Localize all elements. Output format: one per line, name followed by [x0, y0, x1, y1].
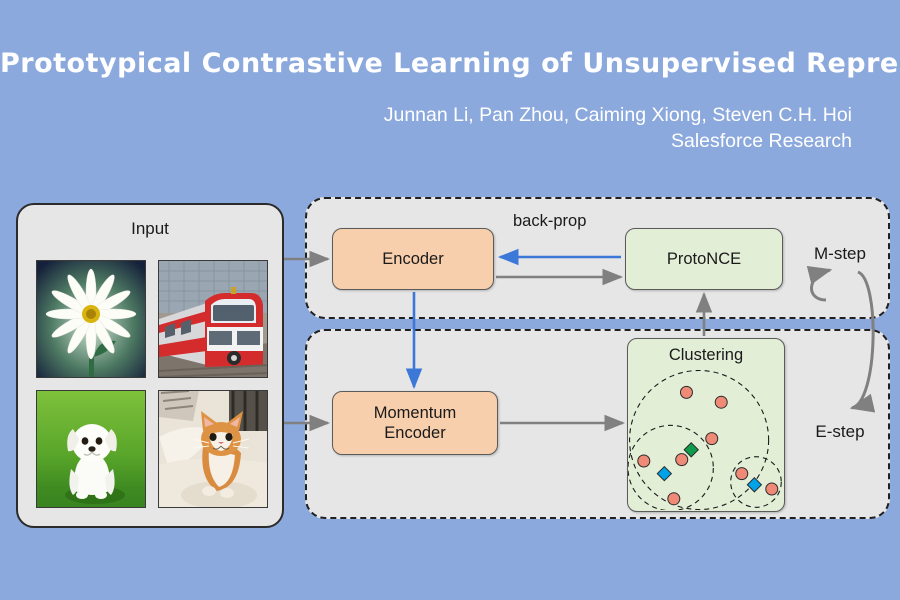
encoder-label: Encoder: [382, 249, 443, 269]
back-prop-label: back-prop: [513, 212, 586, 231]
cluster-point-instance-features: [766, 483, 778, 495]
daisy-flower-thumbnail: [36, 260, 146, 378]
author-list: Junnan Li, Pan Zhou, Caiming Xiong, Stev…: [384, 102, 852, 128]
slide-canvas: Prototypical Contrastive Learning of Uns…: [0, 0, 900, 600]
cluster-point-prototypes-blue: [657, 467, 671, 481]
momentum-encoder-label-line1: Momentum: [374, 404, 457, 422]
e-step-label: E-step: [795, 422, 885, 442]
affiliation: Salesforce Research: [384, 128, 852, 154]
input-thumbnail-grid: [36, 260, 268, 510]
momentum-encoder-box[interactable]: Momentum Encoder: [332, 391, 498, 455]
cluster-point-instance-features: [706, 433, 718, 445]
clustering-scatter-plot: [628, 370, 786, 510]
protonce-box[interactable]: ProtoNCE: [625, 228, 783, 290]
cluster-point-instance-features: [715, 396, 727, 408]
cluster-point-prototypes-blue: [747, 478, 761, 492]
momentum-encoder-label-line2: Encoder: [384, 424, 445, 442]
red-train-thumbnail: [158, 260, 268, 378]
cluster-point-instance-features: [736, 468, 748, 480]
cluster-point-instance-features: [676, 454, 688, 466]
m-step-label: M-step: [795, 244, 885, 264]
cluster-point-instance-features: [638, 455, 650, 467]
cluster-point-prototype-green: [684, 443, 698, 457]
cluster-point-instance-features: [668, 493, 680, 505]
input-panel: Input: [16, 203, 284, 528]
clustering-label: Clustering: [628, 346, 784, 365]
momentum-encoder-label: Momentum Encoder: [374, 403, 457, 443]
protonce-label: ProtoNCE: [667, 249, 741, 269]
authors-block: Junnan Li, Pan Zhou, Caiming Xiong, Stev…: [384, 102, 852, 154]
input-panel-title: Input: [18, 219, 282, 239]
encoder-box[interactable]: Encoder: [332, 228, 494, 290]
page-title: Prototypical Contrastive Learning of Uns…: [0, 48, 900, 79]
clustering-box[interactable]: Clustering: [627, 338, 785, 512]
orange-cat-thumbnail: [158, 390, 268, 508]
cluster-point-instance-features: [680, 386, 692, 398]
cluster-boundary-large-cluster: [630, 370, 769, 509]
white-dog-thumbnail: [36, 390, 146, 508]
